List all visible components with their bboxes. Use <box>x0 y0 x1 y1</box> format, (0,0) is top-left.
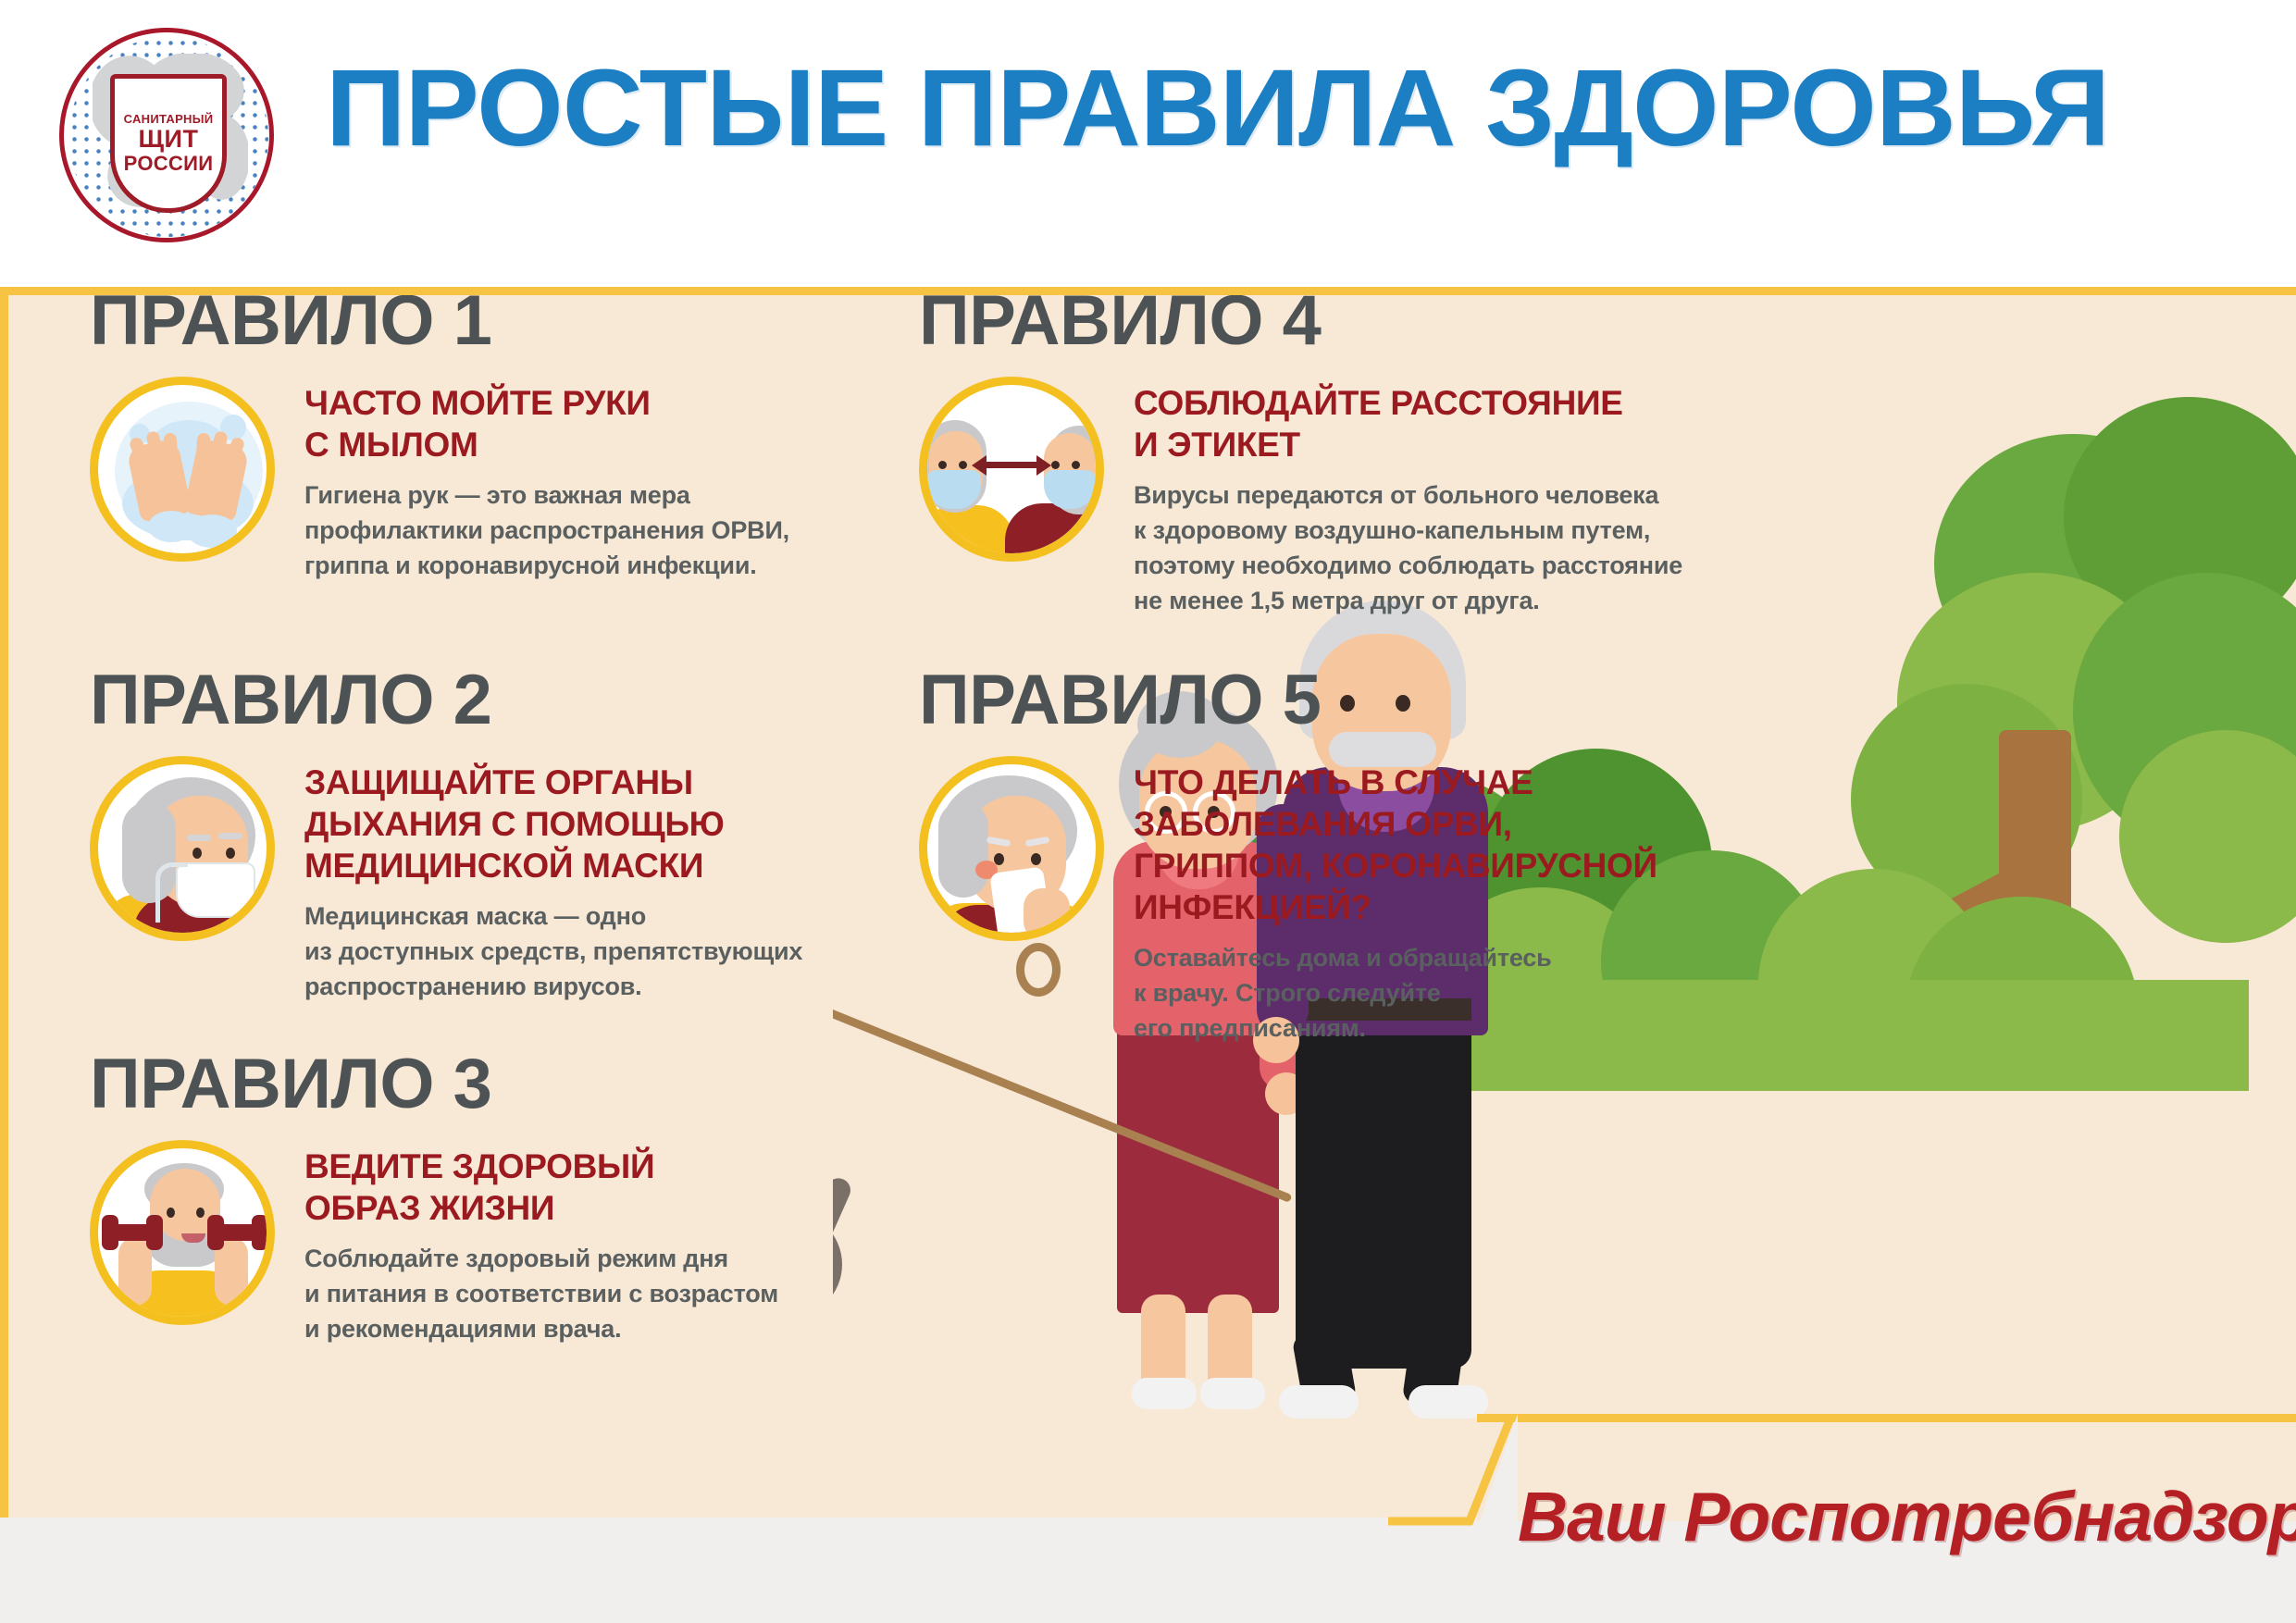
dog <box>833 1156 972 1433</box>
panel-left-accent <box>0 287 8 1518</box>
sneezing-into-tissue-icon <box>919 756 1104 941</box>
content-panel: ПРАВИЛО 1 <box>0 287 2296 1518</box>
eye <box>959 461 967 469</box>
rule-title-5: ЧТО ДЕЛАТЬ В СЛУЧАЕ ЗАБОЛЕВАНИЯ ОРВИ, ГР… <box>1134 762 1657 928</box>
sanitary-shield-logo: САНИТАРНЫЙ ЩИТ РОССИИ <box>57 26 279 248</box>
dumbbell-left-weight <box>146 1215 163 1250</box>
page-title: ПРОСТЫЕ ПРАВИЛА ЗДОРОВЬЯ <box>326 54 2296 174</box>
hair-side <box>938 801 988 898</box>
poster-root: САНИТАРНЫЙ ЩИТ РОССИИ ПРОСТЫЕ ПРАВИЛА ЗД… <box>0 0 2296 1623</box>
rule-block-1: ПРАВИЛО 1 <box>90 287 789 583</box>
eye <box>167 1208 175 1218</box>
dumbbell-left-weight <box>102 1215 118 1250</box>
woman-shoe <box>1132 1378 1197 1409</box>
rule-title-3: ВЕДИТЕ ЗДОРОВЫЙ ОБРАЗ ЖИЗНИ <box>304 1146 778 1229</box>
distance-arrow <box>985 462 1038 468</box>
rule-block-5: ПРАВИЛО 5 ЧТО ДЕЛАТЬ В С <box>919 665 1657 1046</box>
eye <box>226 848 235 859</box>
logo-line-1: САНИТАРНЫЙ <box>124 113 214 125</box>
dumbbell-right-weight <box>207 1215 224 1250</box>
eye <box>938 461 947 469</box>
rule-heading-5: ПРАВИЛО 5 <box>919 665 1657 736</box>
senior-with-dumbbells-icon <box>90 1140 275 1325</box>
dumbbell-right-weight <box>252 1215 268 1250</box>
shield-icon: САНИТАРНЫЙ ЩИТ РОССИИ <box>110 74 227 213</box>
rule-title-2: ЗАЩИЩАЙТЕ ОРГАНЫ ДЫХАНИЯ С ПОМОЩЬЮ МЕДИЦ… <box>304 762 802 886</box>
eyebrow <box>218 833 242 839</box>
mask-strap <box>155 862 188 923</box>
arrow-head-right <box>1036 455 1051 476</box>
woman-shoe <box>1200 1378 1265 1409</box>
rule-heading-3: ПРАВИЛО 3 <box>90 1049 778 1120</box>
eye <box>196 1208 205 1218</box>
rule-block-2: ПРАВИЛО 2 ЗАЩИЩАЙТЕ ОРГАНЫ ДЫХАНИЯ <box>90 665 802 1004</box>
hand-holding-tissue <box>1024 888 1070 940</box>
rule-heading-2: ПРАВИЛО 2 <box>90 665 802 736</box>
rule-desc-5: Оставайтесь дома и обращайтесь к врачу. … <box>1134 940 1657 1046</box>
footer-brand-text: Ваш Роспотребнадзор <box>1518 1477 2296 1556</box>
eye <box>1051 461 1060 469</box>
man-shoe <box>1279 1385 1359 1419</box>
shirt-yellow <box>919 505 1014 562</box>
rule-title-4: СОБЛЮДАЙТЕ РАССТОЯНИЕ И ЭТИКЕТ <box>1134 382 1682 465</box>
social-distance-icon <box>919 377 1104 562</box>
eye <box>1072 461 1080 469</box>
logo-line-3: РОССИИ <box>124 154 214 174</box>
poster-header: САНИТАРНЫЙ ЩИТ РОССИИ ПРОСТЫЕ ПРАВИЛА ЗД… <box>0 0 2296 287</box>
footer-diagonal-accent <box>1388 1414 1518 1529</box>
rule-heading-1: ПРАВИЛО 1 <box>90 287 789 356</box>
eye <box>1031 853 1041 865</box>
arrow-head-left <box>972 455 987 476</box>
rule-heading-4: ПРАВИЛО 4 <box>919 287 1682 356</box>
eyebrow <box>187 835 211 841</box>
rule-block-3: ПРАВИЛО 3 <box>90 1049 778 1346</box>
rule-title-1: ЧАСТО МОЙТЕ РУКИ С МЫЛОМ <box>304 382 789 465</box>
rule-block-4: ПРАВИЛО 4 <box>919 287 1682 618</box>
person-wearing-mask-icon <box>90 756 275 941</box>
eye <box>192 848 202 859</box>
bubble <box>187 514 237 548</box>
rule-desc-2: Медицинская маска — одно из доступных ср… <box>304 898 802 1004</box>
rule-desc-4: Вирусы передаются от больного человека к… <box>1134 477 1682 618</box>
washing-hands-icon <box>90 377 275 562</box>
logo-line-2: ЩИТ <box>139 127 199 153</box>
man-trousers <box>1296 998 1471 1369</box>
rule-desc-3: Соблюдайте здоровый режим дня и питания … <box>304 1241 778 1346</box>
rule-desc-1: Гигиена рук — это важная мера профилакти… <box>304 477 789 583</box>
